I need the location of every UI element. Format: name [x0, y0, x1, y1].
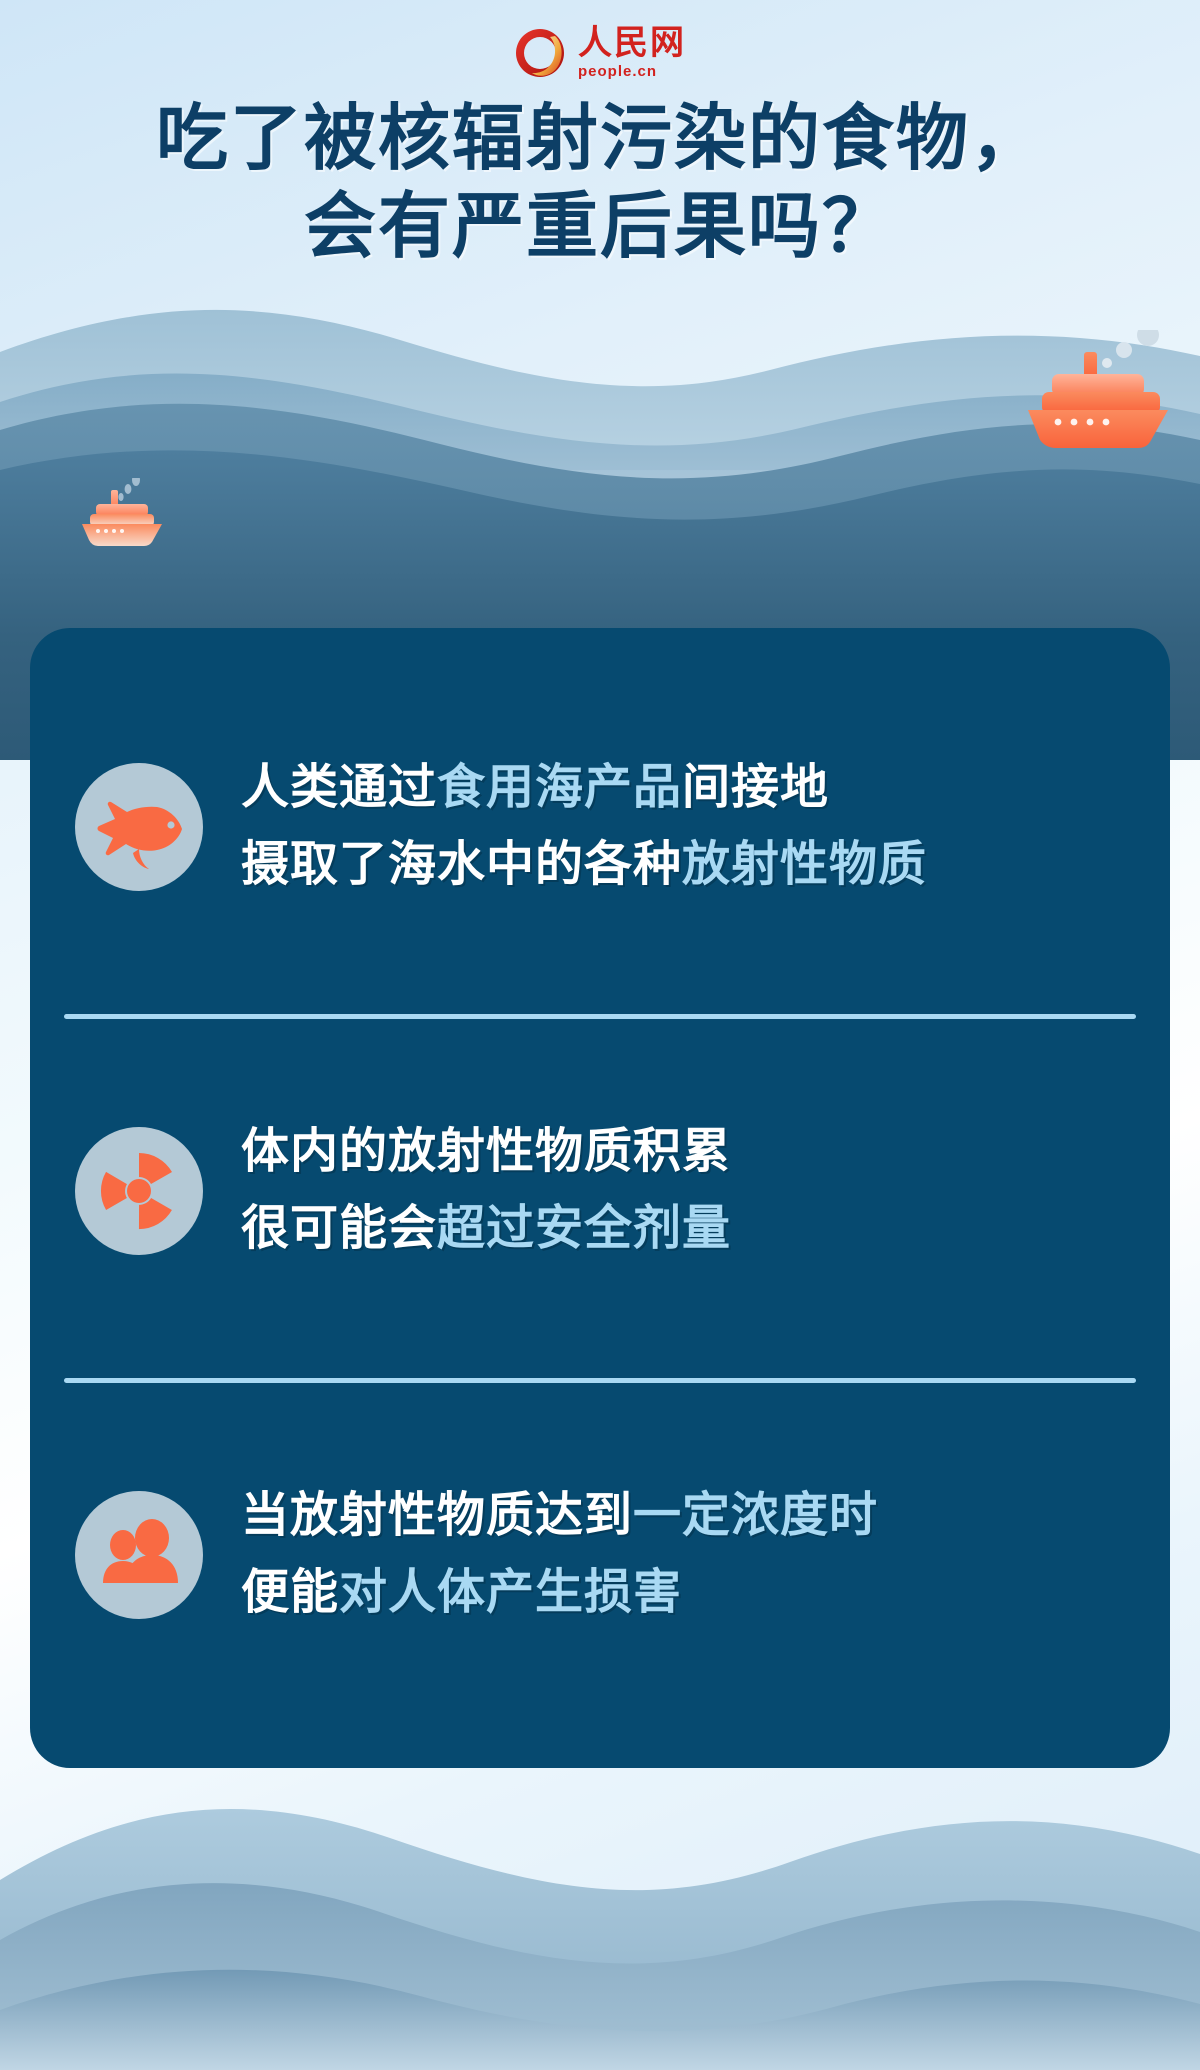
seg-highlight: 对人体产生损害 — [339, 1566, 682, 1619]
seg: 人类通过 — [241, 761, 437, 814]
seg: 摄取了海水中的各种 — [241, 838, 682, 891]
list-item: 体内的放射性物质积累 很可能会超过安全剂量 — [30, 1026, 1170, 1356]
content-card: 人类通过食用海产品间接地 摄取了海水中的各种放射性物质 — [30, 628, 1170, 1768]
page-title: 吃了被核辐射污染的食物， 会有严重后果吗？ — [0, 96, 1200, 272]
smoke-bubbles-icon — [118, 478, 140, 501]
people-cn-globe-icon — [514, 27, 566, 79]
divider — [64, 1014, 1136, 1019]
title-line-1: 吃了被核辐射污染的食物， — [0, 96, 1200, 184]
row-line: 当放射性物质达到一定浓度时 — [241, 1491, 878, 1542]
seg-highlight: 一定浓度时 — [633, 1489, 878, 1542]
smoke-bubbles-icon — [1102, 330, 1159, 368]
people-icon — [75, 1491, 203, 1619]
row-line: 很可能会超过安全剂量 — [241, 1204, 731, 1255]
radiation-icon — [75, 1127, 203, 1255]
seg-highlight: 超过安全剂量 — [437, 1202, 731, 1255]
list-item: 人类通过食用海产品间接地 摄取了海水中的各种放射性物质 — [30, 662, 1170, 992]
seg: 间接地 — [682, 761, 829, 814]
seg: 体内的放射性物质积累 — [241, 1125, 731, 1178]
infographic-poster: 人民网 people.cn 吃了被核辐射污染的食物， 会有严重后果吗？ — [0, 0, 1200, 2070]
row-line: 体内的放射性物质积累 — [241, 1127, 731, 1178]
ship-icon — [1012, 330, 1182, 450]
row-line: 人类通过食用海产品间接地 — [241, 763, 927, 814]
list-item: 当放射性物质达到一定浓度时 便能对人体产生损害 — [30, 1390, 1170, 1720]
row-text: 人类通过食用海产品间接地 摄取了海水中的各种放射性物质 — [241, 763, 927, 891]
row-line: 摄取了海水中的各种放射性物质 — [241, 840, 927, 891]
divider — [64, 1378, 1136, 1383]
seg-highlight: 食用海产品 — [437, 761, 682, 814]
logo-name-en: people.cn — [578, 64, 657, 79]
seg: 当放射性物质达到 — [241, 1489, 633, 1542]
ship-icon — [78, 478, 178, 550]
title-line-2: 会有严重后果吗？ — [0, 184, 1200, 272]
seg: 很可能会 — [241, 1202, 437, 1255]
logo-name-cn: 人民网 — [578, 27, 686, 61]
site-logo: 人民网 people.cn — [0, 18, 1200, 88]
fish-icon — [75, 763, 203, 891]
seg: 便能 — [241, 1566, 339, 1619]
row-text: 当放射性物质达到一定浓度时 便能对人体产生损害 — [241, 1491, 878, 1619]
row-line: 便能对人体产生损害 — [241, 1568, 878, 1619]
row-text: 体内的放射性物质积累 很可能会超过安全剂量 — [241, 1127, 731, 1255]
seg-highlight: 放射性物质 — [682, 838, 927, 891]
